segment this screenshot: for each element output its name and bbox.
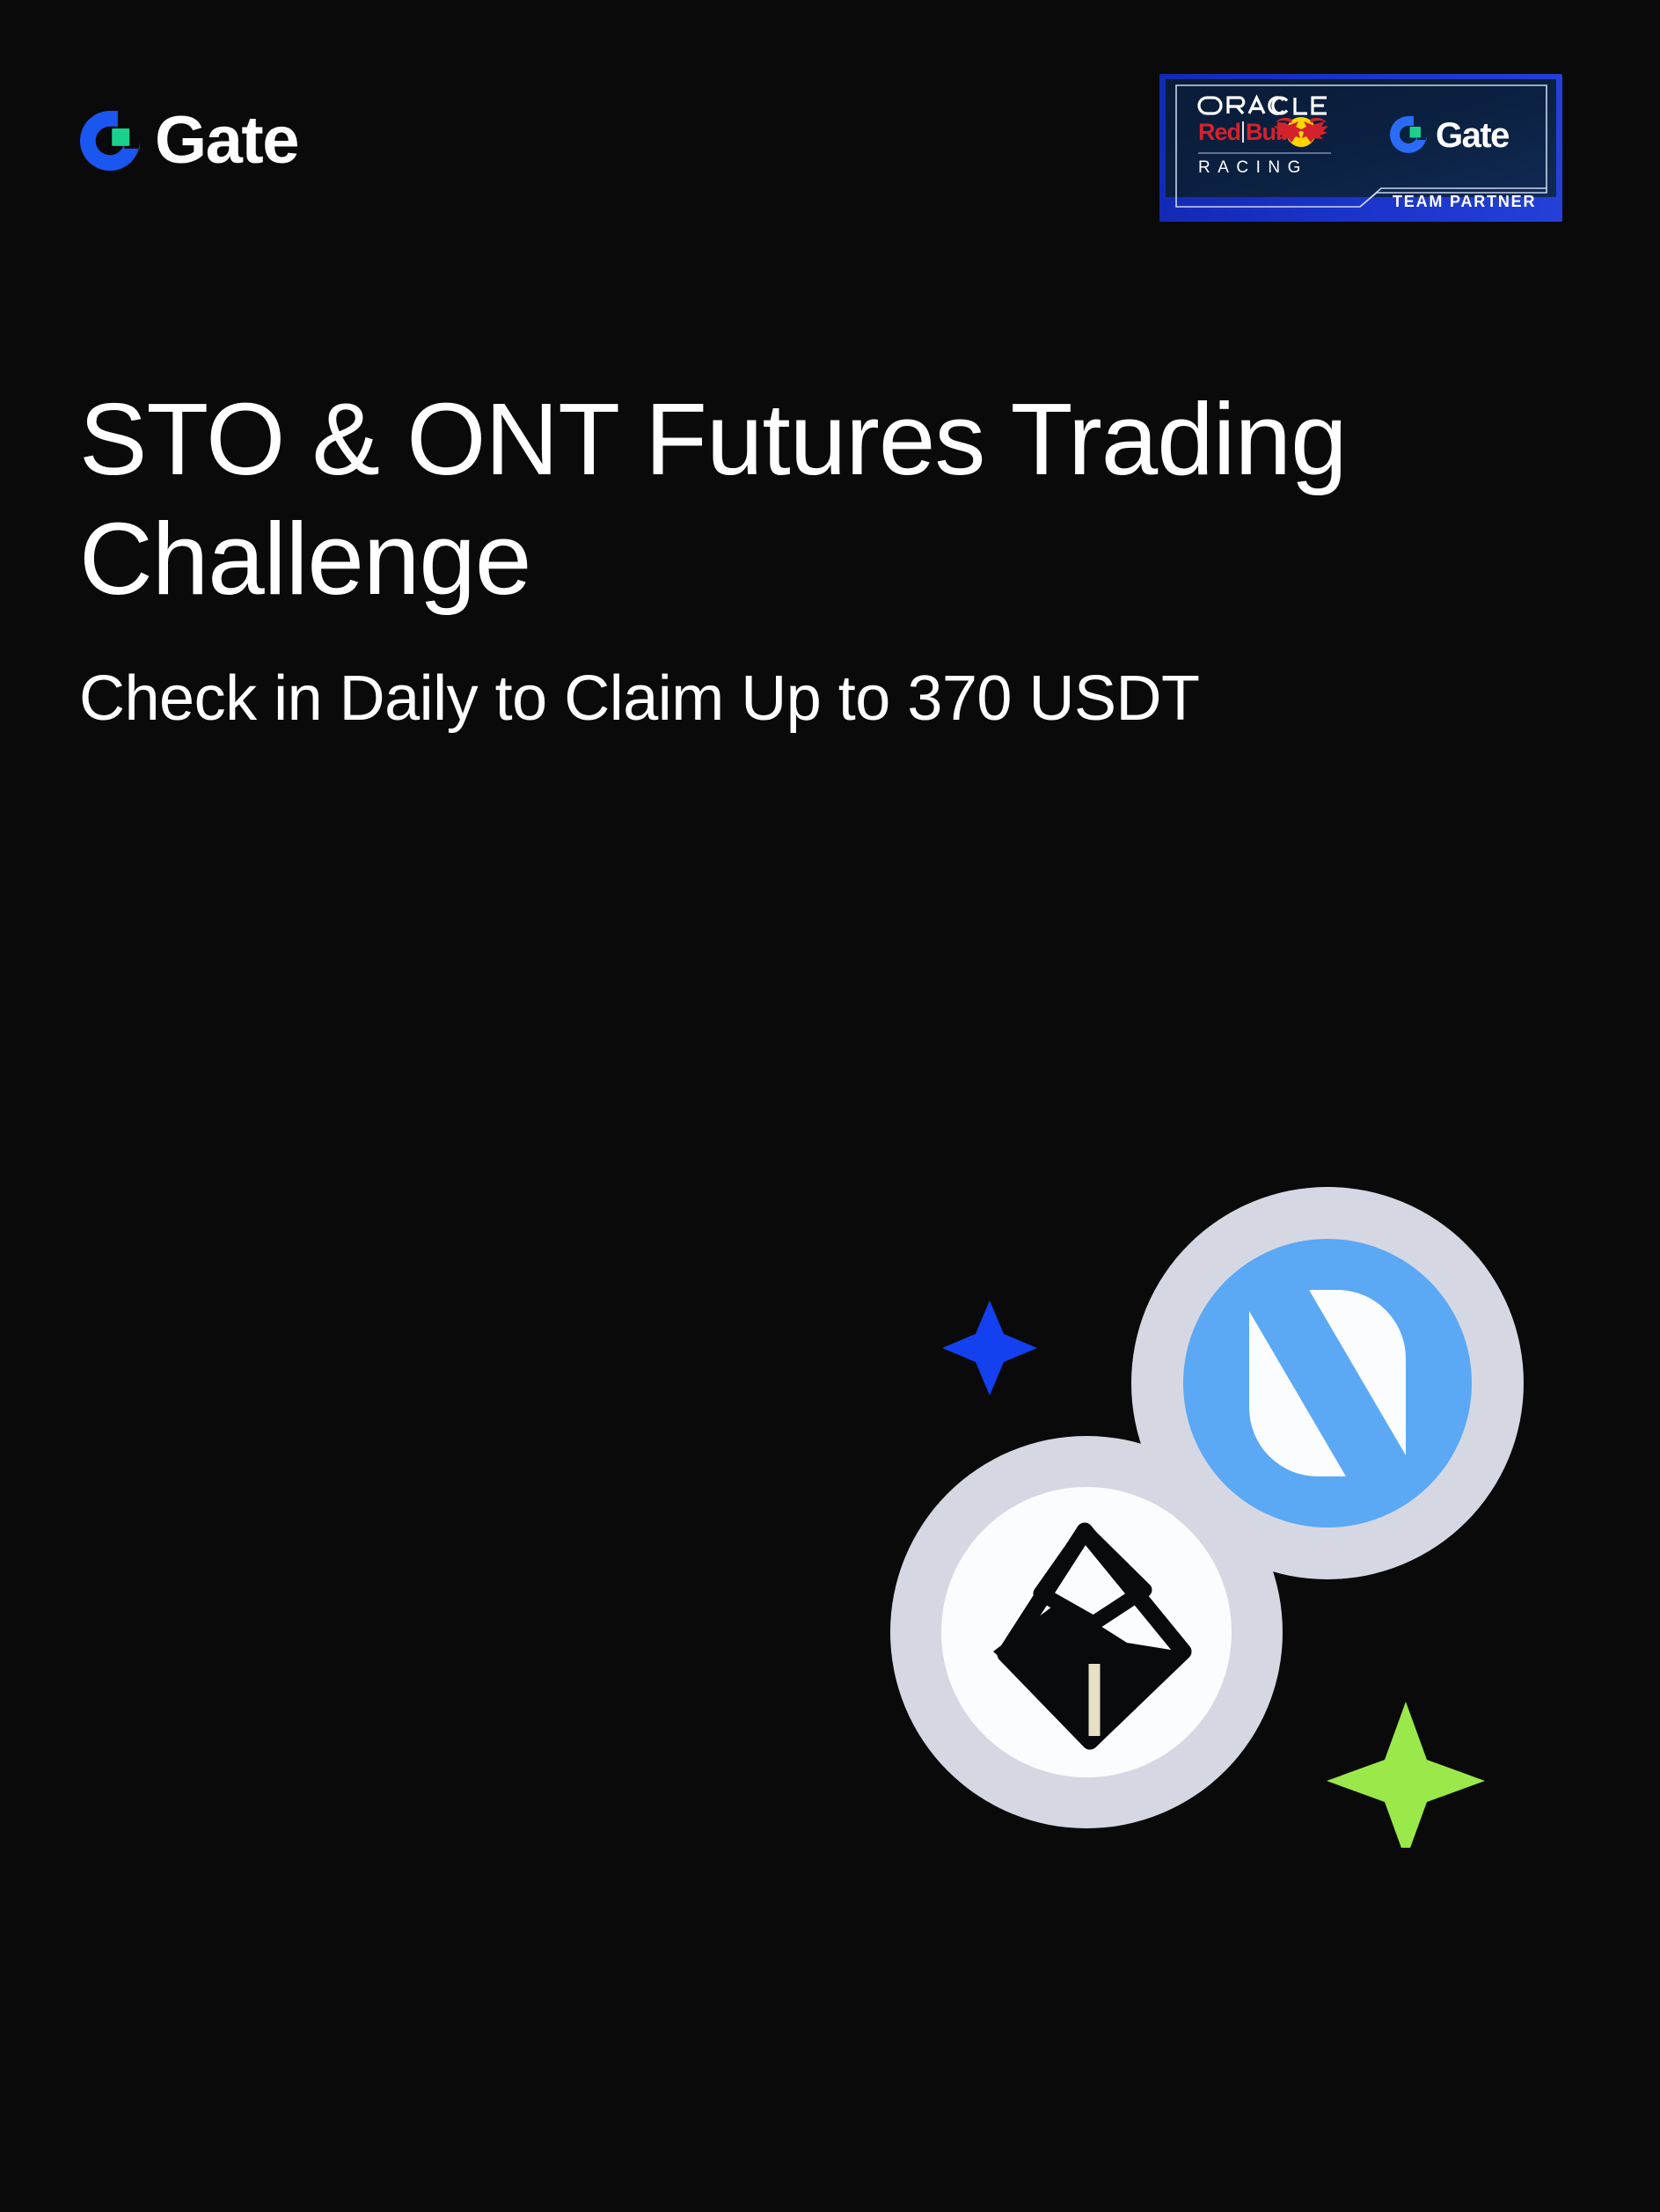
gate-logo-icon bbox=[77, 108, 143, 173]
four-point-star-blue-icon bbox=[942, 1300, 1037, 1395]
page-subtitle: Check in Daily to Claim Up to 370 USDT bbox=[79, 661, 1522, 736]
oracle-red-bull-racing-team-partner-badge[interactable]: Red Bull RACING bbox=[1159, 74, 1562, 222]
svg-text:Gate: Gate bbox=[1436, 116, 1509, 155]
oracle-red-bull-racing-team-partner-badge-icon: Red Bull RACING bbox=[1159, 74, 1562, 222]
coin-illustration-icon bbox=[836, 1144, 1539, 1848]
coin-artwork bbox=[836, 1144, 1539, 1848]
gate-wordmark: Gate bbox=[155, 107, 298, 174]
storj-crystal-coin-icon bbox=[890, 1436, 1283, 1828]
svg-text:Red: Red bbox=[1198, 119, 1240, 145]
svg-text:RACING: RACING bbox=[1198, 158, 1308, 177]
promo-banner: Gate bbox=[0, 0, 1660, 2212]
four-point-star-green-icon bbox=[1327, 1702, 1485, 1848]
svg-text:TEAM PARTNER: TEAM PARTNER bbox=[1393, 193, 1536, 210]
page-title: STO & ONT Futures Trading Challenge bbox=[79, 380, 1522, 619]
gate-brand-logo[interactable]: Gate bbox=[77, 107, 298, 174]
hero-text-block: STO & ONT Futures Trading Challenge Chec… bbox=[79, 380, 1522, 737]
